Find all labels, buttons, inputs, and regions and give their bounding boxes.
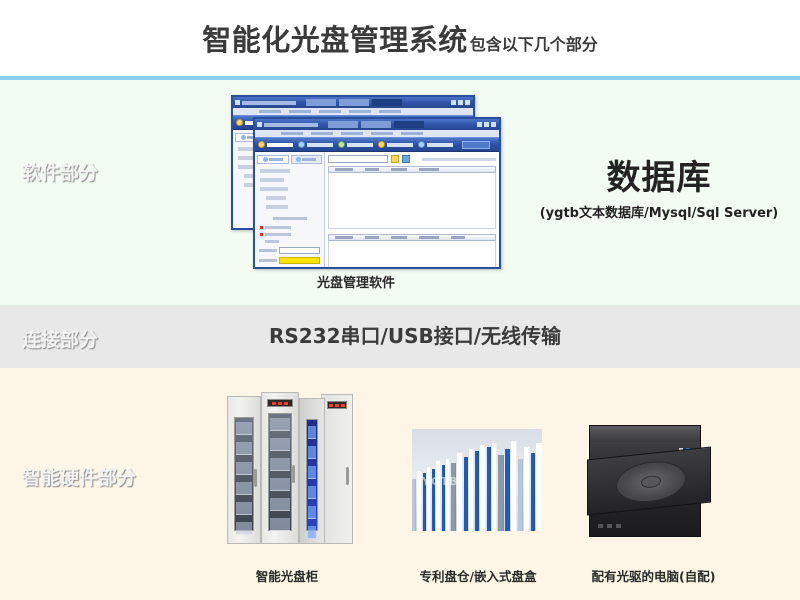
photo-disc-cabinet [217, 380, 357, 550]
band-label-hardware: 智能硬件部分 [22, 463, 136, 490]
hardware-caption-cartridge: 专利盘仓/嵌入式盘盒 [398, 566, 558, 585]
menu-item[interactable] [311, 132, 333, 135]
required-field-row [260, 240, 319, 243]
window-menu-row[interactable] [233, 108, 473, 115]
window-controls[interactable] [451, 100, 471, 105]
table-body-secondary[interactable] [328, 241, 496, 269]
minimize-icon[interactable] [477, 122, 482, 127]
window-tab-active[interactable] [372, 99, 402, 106]
required-field-row [260, 233, 319, 236]
cartridge-stack: YGTB [412, 429, 542, 531]
record-count-text [422, 158, 496, 161]
cabinet-handle [292, 465, 295, 483]
menu-item[interactable] [349, 110, 371, 113]
menu-item[interactable] [259, 110, 281, 113]
menu-item[interactable] [289, 110, 311, 113]
page-header: 智能化光盘管理系统 包含以下几个部分 [0, 0, 800, 76]
page-title-sub: 包含以下几个部分 [470, 31, 598, 55]
window-app-icon [235, 100, 240, 105]
maximize-icon[interactable] [458, 100, 463, 105]
window-titlebar [255, 119, 499, 130]
table-header-secondary [328, 234, 496, 241]
cabinet-handle [254, 469, 257, 487]
toolbar-button[interactable] [298, 141, 333, 148]
window-controls[interactable] [477, 122, 497, 127]
window-tab-strip[interactable] [306, 99, 402, 106]
cabinet-led-display [267, 399, 293, 407]
menu-item[interactable] [379, 110, 401, 113]
database-block: 数据库 (ygtb文本数据库/Mysql/Sql Server) [520, 160, 798, 221]
tree-item[interactable] [266, 196, 286, 200]
filter-icon[interactable] [391, 155, 399, 163]
page-title: 智能化光盘管理系统 包含以下几个部分 [202, 17, 598, 59]
photo-pc-with-optical-drive [581, 417, 723, 545]
window-title-text [242, 101, 296, 105]
text-input[interactable] [279, 247, 320, 254]
cabinet-led-display [327, 401, 347, 409]
software-screenshot-stack [231, 95, 531, 270]
menu-item[interactable] [371, 132, 393, 135]
menu-item[interactable] [401, 132, 423, 135]
hardware-caption-pc: 配有光驱的电脑(自配) [566, 566, 741, 585]
close-icon[interactable] [491, 122, 496, 127]
window-menu-row[interactable] [255, 130, 499, 137]
database-subtitle: (ygtb文本数据库/Mysql/Sql Server) [520, 202, 798, 221]
window-toolbar[interactable] [255, 137, 499, 152]
menu-item[interactable] [281, 132, 303, 135]
sidebar-section-label [273, 217, 307, 220]
table-header [328, 166, 496, 173]
software-window-front[interactable] [253, 117, 501, 269]
text-input[interactable] [279, 267, 320, 269]
connection-methods-text: RS232串口/USB接口/无线传输 [0, 320, 800, 349]
window-tab[interactable] [339, 99, 369, 106]
poster-root: 智能化光盘管理系统 包含以下几个部分 软件部分 [0, 0, 800, 600]
toolbar-action-pill[interactable] [462, 141, 490, 149]
required-marker-icon [260, 226, 263, 229]
highlighted-input[interactable] [279, 257, 320, 264]
software-caption: 光盘管理软件 [231, 272, 481, 291]
close-icon[interactable] [465, 100, 470, 105]
refresh-icon[interactable] [402, 155, 410, 163]
database-title: 数据库 [520, 160, 798, 197]
window-tab[interactable] [361, 121, 391, 128]
search-row[interactable] [328, 155, 496, 163]
menu-item[interactable] [341, 132, 363, 135]
window-content [325, 152, 499, 267]
page-title-main: 智能化光盘管理系统 [202, 17, 468, 59]
disc-hub [641, 475, 661, 489]
sidebar-tab[interactable] [291, 155, 323, 164]
cabinet-handle [346, 467, 349, 485]
photo-disc-cartridge: YGTB [406, 417, 548, 545]
form-field[interactable] [259, 267, 320, 269]
window-tab-strip[interactable] [328, 121, 424, 128]
window-body [255, 152, 499, 267]
search-input[interactable] [328, 155, 388, 163]
table-body[interactable] [328, 173, 496, 229]
window-sidebar[interactable] [255, 152, 325, 267]
tree-item[interactable] [260, 169, 290, 173]
disc-platter [616, 458, 686, 505]
form-field[interactable] [259, 247, 320, 254]
hardware-caption-cabinet: 智能光盘柜 [217, 566, 357, 585]
toolbar-button[interactable] [258, 141, 293, 148]
required-marker-icon [260, 233, 263, 236]
cabinet-glass-door-lit [306, 419, 318, 531]
cabinet-unit [227, 396, 261, 544]
minimize-icon[interactable] [451, 100, 456, 105]
pc-top-panel [590, 426, 700, 442]
menu-item[interactable] [319, 110, 341, 113]
toolbar-button[interactable] [378, 141, 413, 148]
tree-item[interactable] [260, 178, 284, 182]
window-tab[interactable] [328, 121, 358, 128]
cabinet-unit [261, 392, 299, 544]
toolbar-button[interactable] [418, 141, 453, 148]
tree-item[interactable] [260, 187, 288, 191]
form-field[interactable] [259, 257, 320, 264]
window-titlebar [233, 97, 473, 108]
cartridge-watermark: YGTB [422, 475, 459, 488]
cabinet-glass-door [268, 413, 292, 531]
required-field-row [260, 226, 319, 229]
cabinet-unit [321, 394, 353, 544]
sidebar-tabs[interactable] [257, 155, 322, 164]
sidebar-tab-active[interactable] [257, 155, 289, 164]
pc-front-ports [598, 524, 621, 528]
cabinet-unit [299, 398, 325, 544]
maximize-icon[interactable] [484, 122, 489, 127]
window-tab[interactable] [306, 99, 336, 106]
toolbar-button[interactable] [338, 141, 373, 148]
cabinet-glass-door [234, 417, 254, 531]
window-title-text [264, 123, 318, 127]
tree-item[interactable] [266, 205, 288, 209]
window-tab-active[interactable] [394, 121, 424, 128]
window-app-icon [257, 122, 262, 127]
band-label-software: 软件部分 [22, 158, 98, 185]
